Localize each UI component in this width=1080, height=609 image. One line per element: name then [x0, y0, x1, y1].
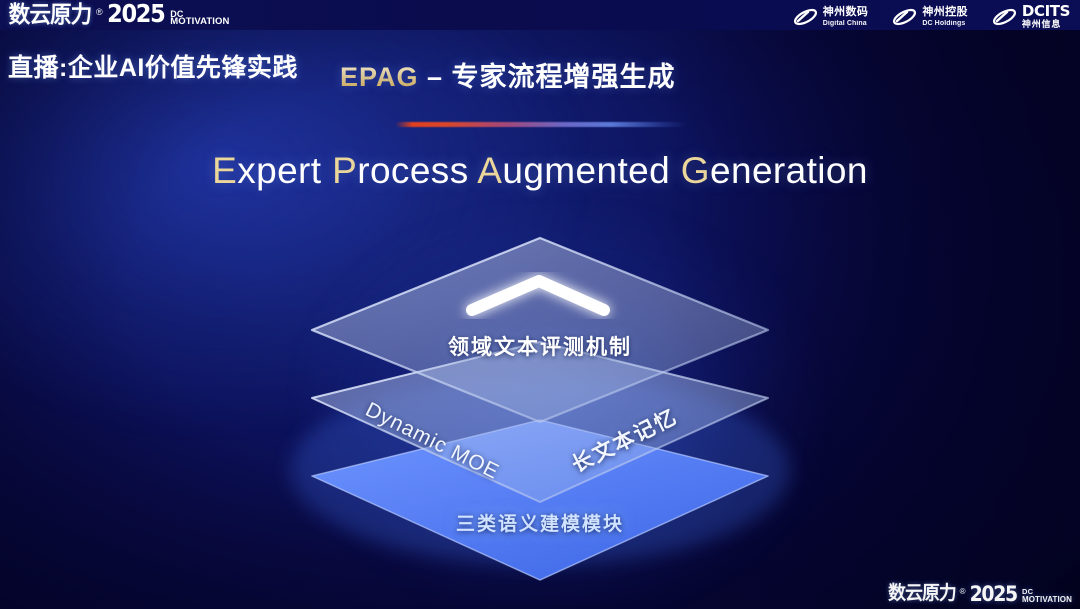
subtitle-word-augmented: Augmented — [477, 150, 681, 191]
watermark-dc-line2: MOTIVATION — [1022, 596, 1072, 604]
partner-logos: 神州数码 Digital China 神州控股 DC Holdings — [793, 4, 1070, 29]
logo-digital-china: 神州数码 Digital China — [793, 6, 869, 28]
subtitle-word-process: Process — [332, 150, 477, 191]
top-bar: 数云原力 ® 2025 DC MOTIVATION 神州数码 Digital C… — [0, 0, 1080, 30]
subtitle-rest-generation: eneration — [710, 150, 868, 191]
watermark-registered-mark: ® — [960, 586, 966, 598]
brand-dc-motivation: DC MOTIVATION — [170, 10, 229, 26]
brand-dc-line2: MOTIVATION — [170, 18, 229, 26]
logo-dc-holdings: 神州控股 DC Holdings — [892, 6, 968, 28]
watermark-name-cn: 数云原力 — [888, 583, 956, 605]
swirl-logo-icon — [793, 6, 818, 28]
logo-cn-digital-china: 神州数码 — [823, 7, 869, 18]
epag-dash: – — [419, 62, 452, 92]
watermark-year: 2025 — [969, 583, 1016, 605]
subtitle-cap-p: P — [332, 150, 357, 191]
subtitle-rest-expert: xpert — [237, 150, 332, 191]
logo-en-digital-china: Digital China — [823, 20, 869, 27]
corner-watermark: 数云原力 ® 2025 DC MOTIVATION — [886, 583, 1072, 605]
logo-cn-dc-holdings: 神州控股 — [922, 7, 968, 18]
subtitle-cap-a: A — [477, 150, 502, 191]
logo-text-dc-holdings: 神州控股 DC Holdings — [922, 7, 968, 27]
watermark-dc-motivation: DC MOTIVATION — [1022, 588, 1072, 604]
swirl-logo-icon — [992, 6, 1017, 28]
swirl-logo-icon — [892, 6, 917, 28]
brand-name-cn: 数云原力 — [9, 1, 92, 27]
presentation-slide: 数云原力 ® 2025 DC MOTIVATION 神州数码 Digital C… — [0, 0, 1080, 609]
subtitle-word-expert: Expert — [212, 150, 332, 191]
logo-cn-dcits: 神州信息 — [1022, 20, 1070, 29]
subtitle-rest-process: rocess — [357, 150, 477, 191]
logo-en-dc-holdings: DC Holdings — [922, 20, 968, 27]
logo-dcits: DCITS 神州信息 — [992, 4, 1070, 29]
brand-registered-mark: ® — [96, 5, 103, 19]
subtitle-cap-g: G — [681, 150, 710, 191]
epag-expansion-subtitle: Expert Process Augmented Generation — [0, 150, 1080, 192]
epag-chinese-title: 专家流程增强生成 — [452, 62, 676, 92]
logo-en-dcits: DCITS — [1022, 4, 1070, 19]
logo-text-digital-china: 神州数码 Digital China — [823, 7, 869, 27]
brand-logo: 数云原力 ® 2025 DC MOTIVATION — [6, 1, 229, 27]
live-stream-title: 直播:企业AI价值先锋实践 — [8, 48, 298, 84]
epag-abbreviation: EPAG — [340, 62, 419, 92]
epag-title: EPAG – 专家流程增强生成 — [340, 55, 676, 94]
brand-year: 2025 — [107, 1, 164, 27]
subtitle-cap-e: E — [212, 150, 237, 191]
gradient-divider — [395, 122, 687, 127]
subtitle-word-generation: Generation — [681, 150, 868, 191]
subtitle-rest-augmented: ugmented — [502, 150, 680, 191]
logo-text-dcits: DCITS 神州信息 — [1022, 4, 1070, 29]
